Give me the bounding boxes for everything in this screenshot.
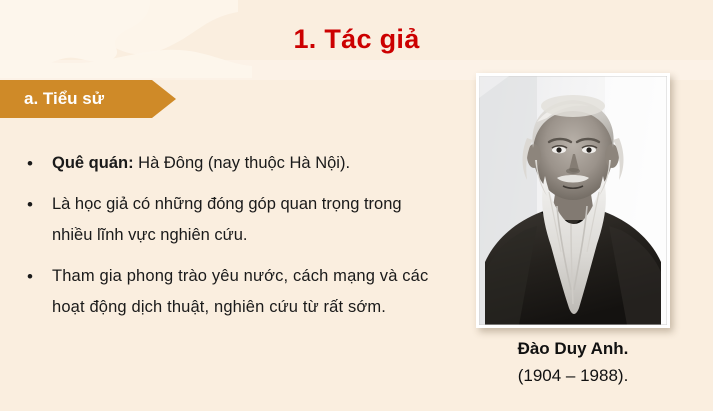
section-banner-label: a. Tiểu sử — [24, 89, 104, 108]
portrait-caption-years: (1904 – 1988). — [476, 362, 670, 390]
slide-canvas: 1. Tác giả a. Tiểu sử Quê quán: Hà Đông … — [0, 0, 713, 411]
bullet-text: Là học giả có những đóng góp quan trọng … — [52, 195, 402, 244]
biography-bullet-list: Quê quán: Hà Đông (nay thuộc Hà Nội). Là… — [22, 148, 446, 333]
portrait-photo-image — [479, 76, 667, 325]
bullet-text: Tham gia phong trào yêu nước, cách mạng … — [52, 267, 428, 316]
portrait-caption-name: Đào Duy Anh. — [476, 336, 670, 362]
page-title: 1. Tác giả — [0, 24, 713, 55]
list-item: Là học giả có những đóng góp quan trọng … — [22, 189, 446, 251]
portrait-caption: Đào Duy Anh. (1904 – 1988). — [476, 336, 670, 390]
portrait-photo — [476, 73, 670, 328]
list-item: Quê quán: Hà Đông (nay thuộc Hà Nội). — [22, 148, 446, 179]
section-banner-tieu-su: a. Tiểu sử — [0, 80, 176, 118]
bullet-text: Hà Đông (nay thuộc Hà Nội). — [134, 154, 350, 172]
list-item: Tham gia phong trào yêu nước, cách mạng … — [22, 261, 446, 323]
bullet-lead-label: Quê quán: — [52, 154, 134, 172]
